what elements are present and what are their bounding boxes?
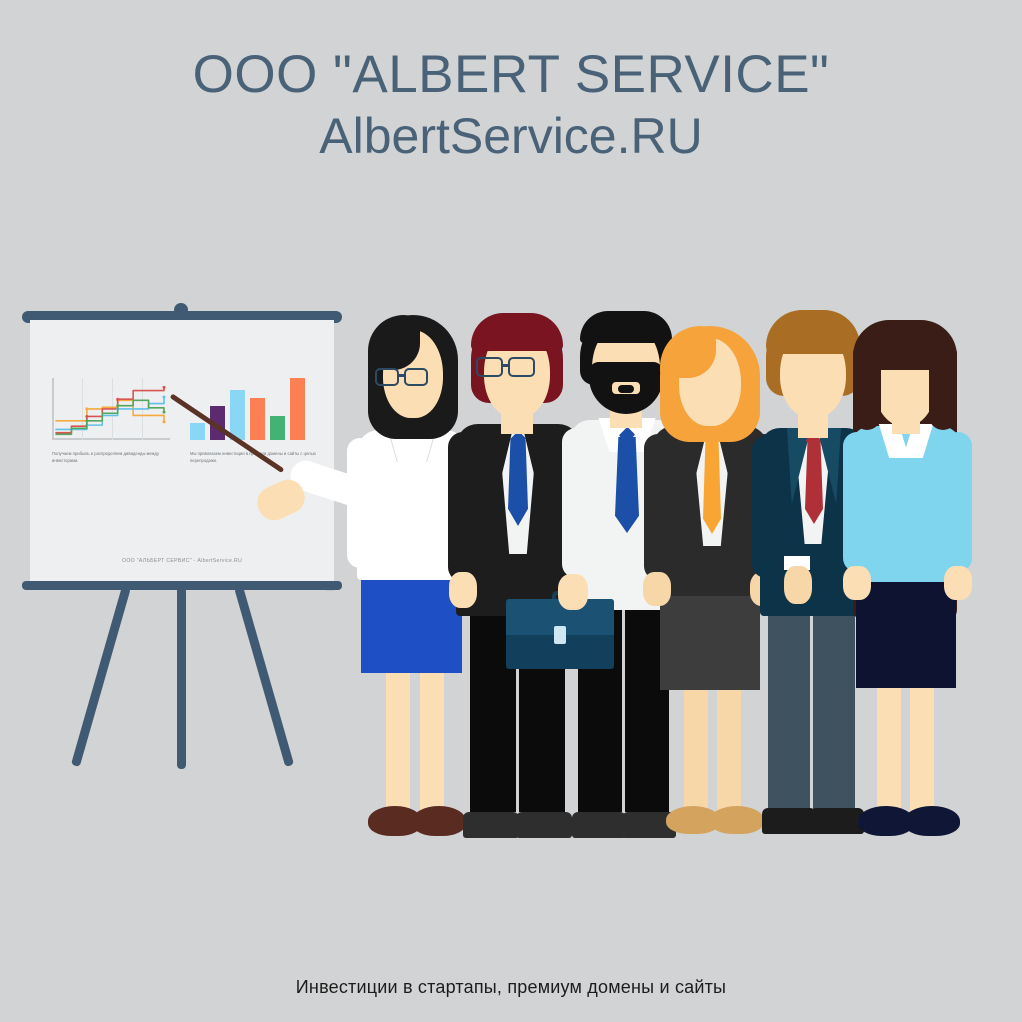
shoe [412, 806, 466, 836]
leg [717, 680, 741, 812]
people-group [0, 0, 1022, 1022]
arm-left [644, 434, 672, 580]
leg [877, 680, 901, 812]
arm-left [843, 432, 871, 572]
shoe [762, 808, 816, 834]
hair-top [766, 310, 860, 354]
bottom-caption: Инвестиции в стартапы, премиум домены и … [0, 977, 1022, 998]
hair-top [471, 313, 563, 351]
hand-right [558, 574, 588, 610]
skirt [856, 572, 956, 688]
arm-left [562, 428, 590, 578]
shoe [516, 812, 572, 838]
tie [703, 438, 721, 534]
glasses-bridge [503, 364, 508, 367]
hair-side-left [853, 340, 881, 430]
arm-right [944, 432, 972, 572]
hand-left [449, 572, 477, 608]
leg [684, 680, 708, 812]
tie [615, 437, 639, 533]
tie [508, 440, 528, 526]
glasses-bridge [399, 374, 404, 377]
glasses-lens-right [404, 368, 428, 386]
tie [805, 440, 823, 524]
shoe [463, 812, 519, 838]
trouser-leg [813, 612, 855, 812]
briefcase-lock-icon [554, 626, 566, 644]
arm-left [448, 432, 478, 582]
mouth-inner [618, 385, 634, 393]
hand-left [843, 566, 871, 600]
glasses-lens-left [375, 368, 399, 386]
arm-left [752, 436, 780, 578]
hair-fringe [368, 315, 420, 370]
glasses-lens-right [508, 357, 535, 377]
skirt [361, 573, 462, 673]
glasses-lens-left [476, 357, 503, 377]
shoe [572, 812, 626, 838]
poster-canvas: ООО "ALBERT SERVICE" AlbertService.RU [0, 0, 1022, 1022]
leg [910, 680, 934, 812]
hair-side-right [929, 340, 957, 430]
shoe [904, 806, 960, 836]
trouser-leg [768, 612, 810, 812]
leg [386, 666, 410, 812]
shoe [710, 806, 764, 834]
leg [420, 666, 444, 812]
hand-left [784, 566, 812, 604]
hand-left [643, 572, 671, 606]
hair-top [580, 311, 672, 343]
hand-right [944, 566, 972, 600]
shoe [810, 808, 864, 834]
